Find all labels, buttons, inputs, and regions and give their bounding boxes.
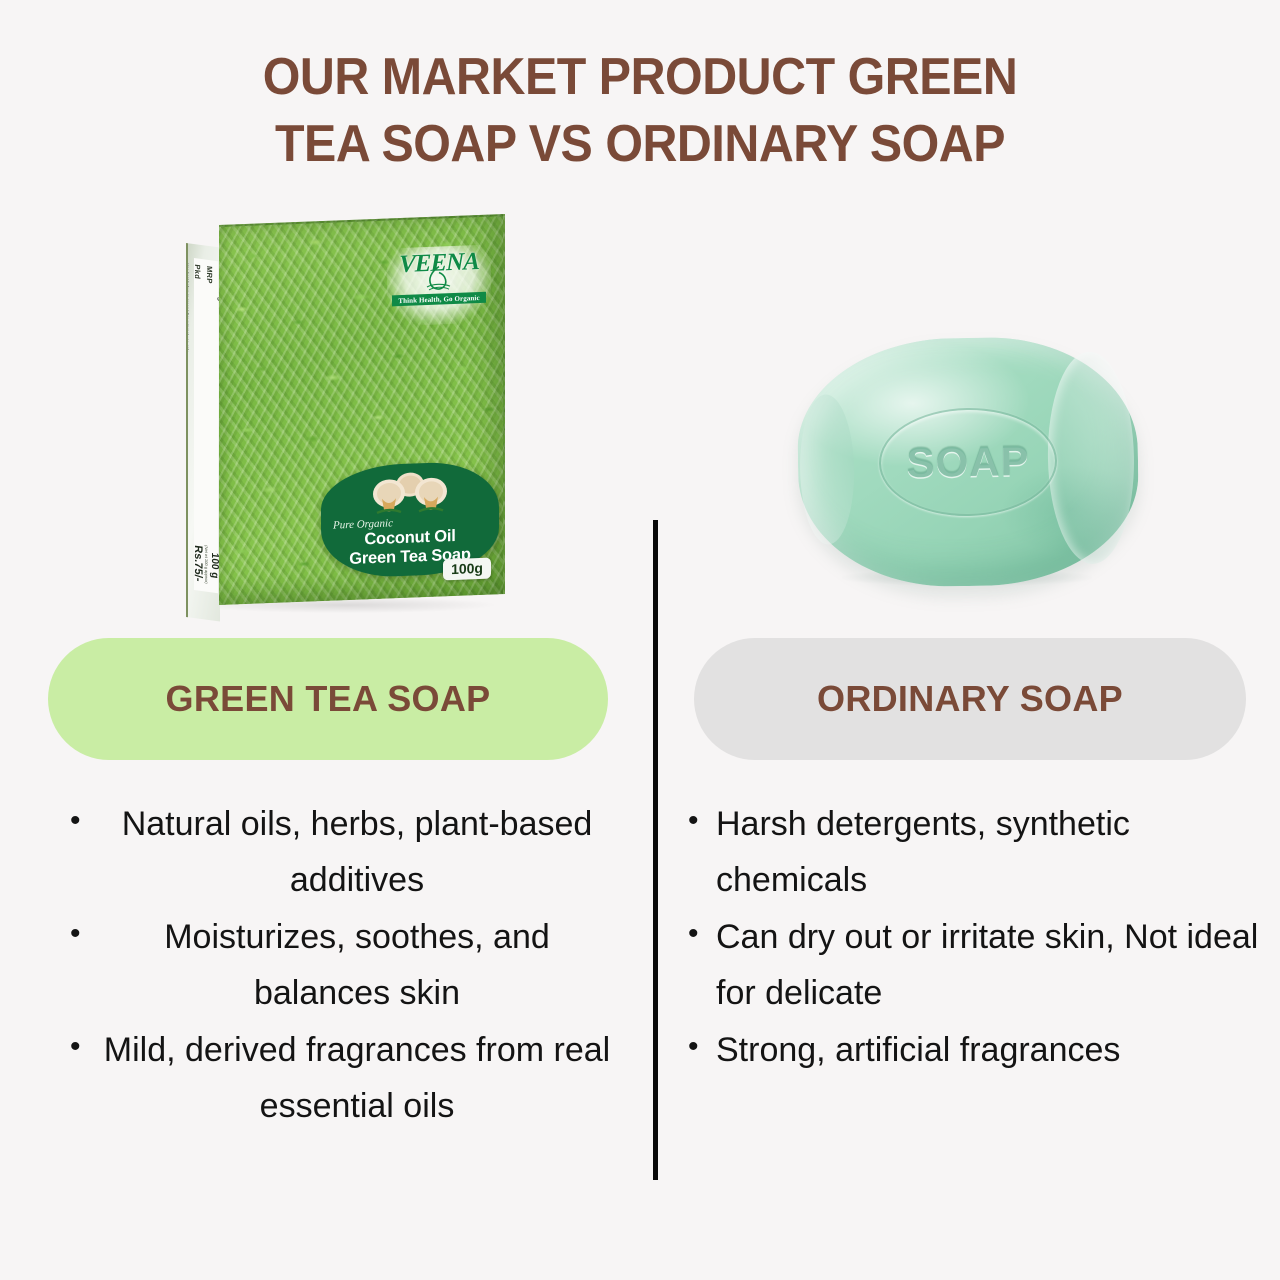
soap-embossed-oval: SOAP xyxy=(878,406,1058,517)
veena-brand-logo: VEENA Think Health, Go Organic xyxy=(387,245,491,327)
box-front-face: VEENA Think Health, Go Organic xyxy=(219,214,505,605)
list-item: Natural oils, herbs, plant-based additiv… xyxy=(62,796,622,909)
side-panel-labels: Net Weight MRP Pkd Use best before in gr… xyxy=(186,257,220,357)
soap-highlight-right xyxy=(1046,351,1136,564)
mrp-label: MRP xyxy=(206,266,215,356)
box-side-panel-text: Net Weight MRP Pkd Use best before in gr… xyxy=(194,258,218,593)
mrp-value: Rs.75/- xyxy=(192,543,204,583)
list-item: Can dry out or irritate skin, Not ideal … xyxy=(680,909,1260,1022)
page-title: OUR MARKET PRODUCT GREEN TEA SOAP VS ORD… xyxy=(45,44,1235,177)
soap-bar: SOAP xyxy=(796,335,1140,589)
pkd-label: Pkd xyxy=(194,264,203,354)
ordinary-soap-heading-pill: ORDINARY SOAP xyxy=(694,638,1246,760)
list-item: Moisturizes, soothes, and balances skin xyxy=(62,909,622,1022)
soap-highlight-left xyxy=(799,394,856,545)
list-item: Mild, derived fragrances from real essen… xyxy=(62,1022,622,1135)
weight-badge: 100g xyxy=(443,558,491,581)
column-divider xyxy=(653,520,658,1180)
coconut-illustration-icon xyxy=(367,470,453,519)
green-tea-soap-benefits-list: Natural oils, herbs, plant-based additiv… xyxy=(62,796,622,1135)
soap-embossed-text: SOAP xyxy=(906,437,1030,487)
list-item: Strong, artificial fragrances xyxy=(680,1022,1260,1078)
green-tea-soap-heading-label: GREEN TEA SOAP xyxy=(166,678,491,720)
box-side-panel: Net Weight MRP Pkd Use best before in gr… xyxy=(186,243,220,621)
ordinary-soap-bar-image: SOAP xyxy=(798,338,1146,600)
side-panel-values: 100 g (Net wt 100 g approx) Rs.75/- xyxy=(192,543,220,593)
green-tea-soap-heading-pill: GREEN TEA SOAP xyxy=(48,638,608,760)
list-item: Harsh detergents, synthetic chemicals xyxy=(680,796,1260,909)
side-panel-fine-print: Use best before in green | For external … xyxy=(186,263,191,352)
ordinary-soap-drawbacks-list: Harsh detergents, synthetic chemicals Ca… xyxy=(680,796,1260,1078)
net-weight-subtext: (Net wt 100 g approx) xyxy=(204,545,209,584)
ordinary-soap-heading-label: ORDINARY SOAP xyxy=(817,678,1123,720)
leaf-swirl-icon xyxy=(419,265,459,293)
brand-tagline: Think Health, Go Organic xyxy=(392,292,485,307)
green-tea-soap-box-image: Net Weight MRP Pkd Use best before in gr… xyxy=(186,225,506,625)
